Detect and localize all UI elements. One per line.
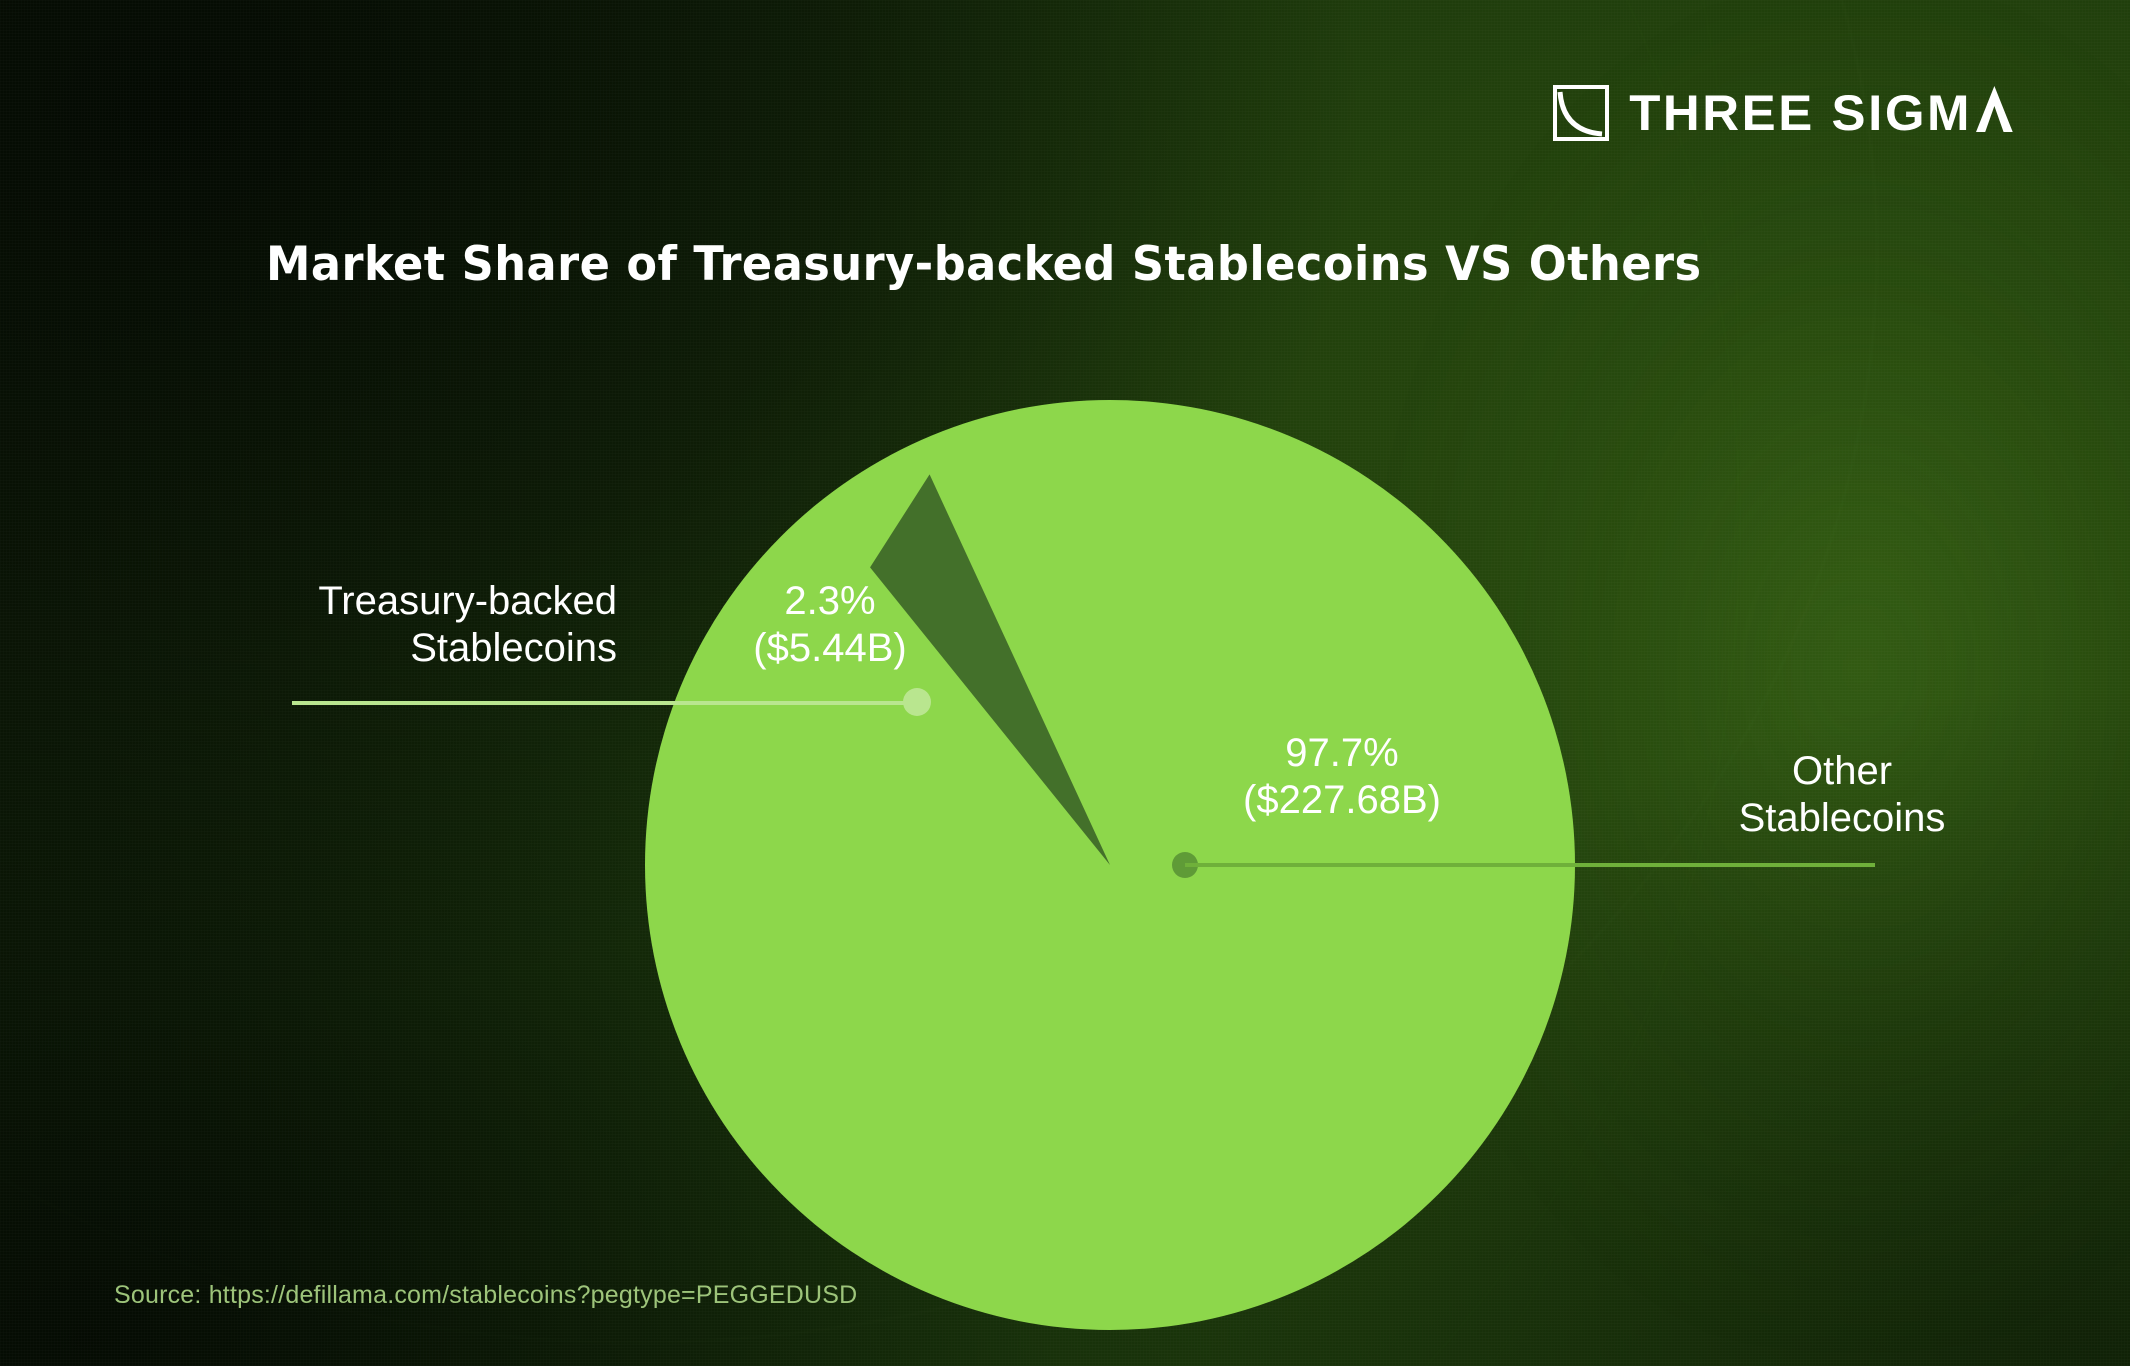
callout-line-other-stablecoins	[1185, 863, 1875, 867]
callout-marker-treasury-backed	[903, 688, 931, 716]
source-caption: Source: https://defillama.com/stablecoin…	[114, 1281, 857, 1310]
slice-label-treasury-backed: Treasury-backed Stablecoins	[272, 578, 617, 672]
callout-line-treasury-backed	[292, 701, 920, 705]
slice-value-other-stablecoins: 97.7% ($227.68B)	[1182, 730, 1502, 824]
pie-chart: Treasury-backed Stablecoins 2.3% ($5.44B…	[0, 0, 2130, 1366]
slice-value-treasury-backed: 2.3% ($5.44B)	[700, 578, 960, 672]
slice-label-other-stablecoins: Other Stablecoins	[1682, 748, 2002, 842]
